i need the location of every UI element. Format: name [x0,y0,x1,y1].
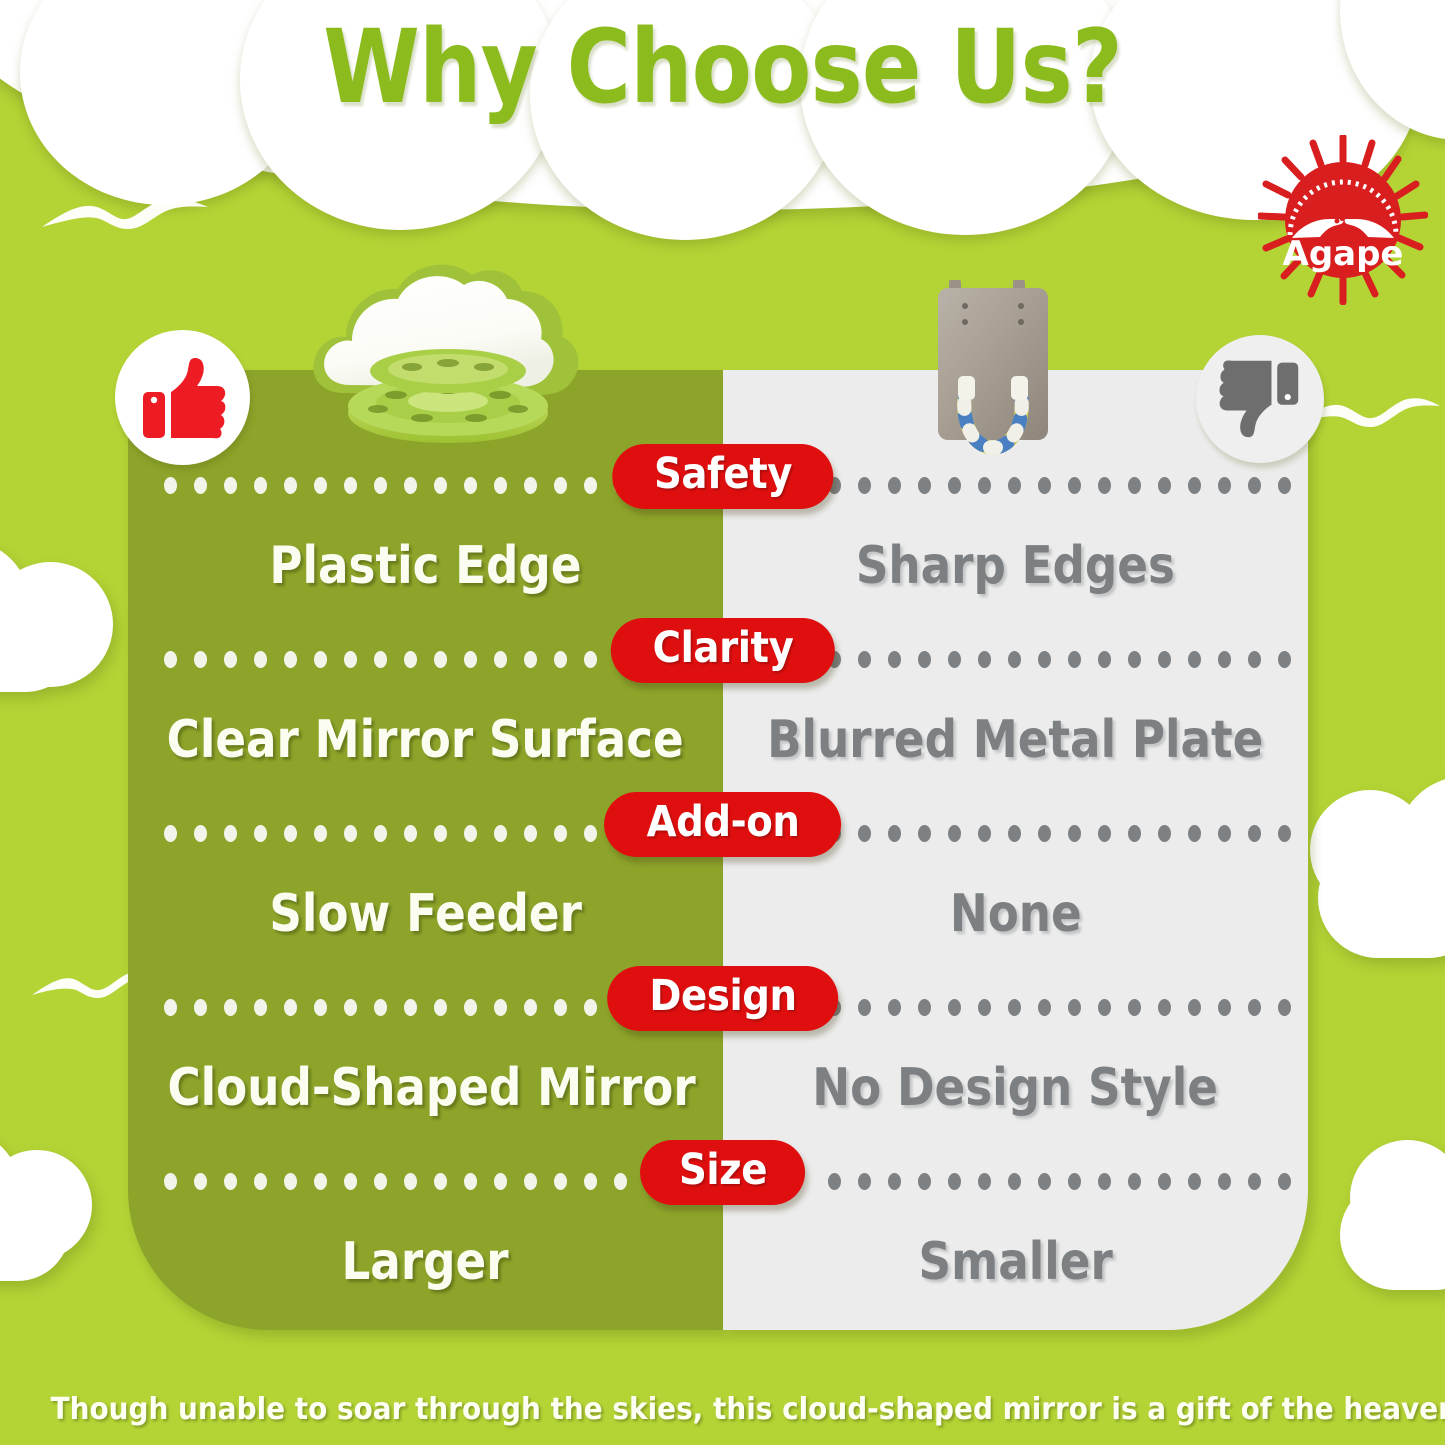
dotted-line-right [828,476,1291,494]
feature-badge-design[interactable]: Design [607,966,839,1031]
bad-value-clarity: Blurred Metal Plate [723,712,1308,769]
bird-silhouette-top-left [40,175,220,235]
comparison-row: Size Larger Smaller [0,1172,1445,1340]
page-title: Why Choose Us? [101,8,1344,127]
feature-badge-size[interactable]: Size [640,1140,806,1205]
dotted-line-left [164,476,627,494]
good-value-design: Cloud-Shaped Mirror [128,1060,723,1117]
logo-brand-name: Agape [1283,234,1404,274]
cloud-mirror-slow-feeder-icon [300,243,600,458]
feature-badge-clarity[interactable]: Clarity [610,618,834,683]
footer-tagline: Though unable to soar through the skies,… [51,1392,1395,1427]
bad-value-addon: None [723,886,1308,943]
bad-value-design: No Design Style [723,1060,1308,1117]
good-value-addon: Slow Feeder [128,886,723,943]
badge-label: Safety [653,453,791,496]
thumbs-down-icon [1216,355,1304,443]
metal-plate [938,288,1048,440]
dotted-line-right [828,650,1291,668]
thumbs-up-badge [115,330,250,465]
dotted-line-left [164,998,627,1016]
good-value-size: Larger [128,1234,723,1291]
good-value-clarity: Clear Mirror Surface [128,712,723,769]
agape-logo-badge: Agape [1258,135,1428,305]
thumbs-down-badge [1196,335,1324,463]
infographic-canvas: Why Choose Us? [0,0,1445,1445]
feature-badge-safety[interactable]: Safety [612,444,833,509]
dotted-line-left [164,650,627,668]
bad-value-safety: Sharp Edges [723,538,1308,595]
badge-label: Clarity [652,627,793,670]
good-value-safety: Plastic Edge [128,538,723,595]
dotted-line-left [164,824,627,842]
metal-plate-rope-perch-icon [920,278,1065,473]
dotted-line-left [164,1172,627,1190]
bad-value-size: Smaller [723,1234,1308,1291]
badge-label: Add-on [646,801,799,844]
thumbs-up-icon [137,352,229,444]
dotted-line-right [828,1172,1291,1190]
badge-label: Size [678,1149,766,1192]
badge-label: Design [649,975,796,1018]
dotted-line-right [828,824,1291,842]
dotted-line-right [828,998,1291,1016]
feature-badge-addon[interactable]: Add-on [604,792,842,857]
